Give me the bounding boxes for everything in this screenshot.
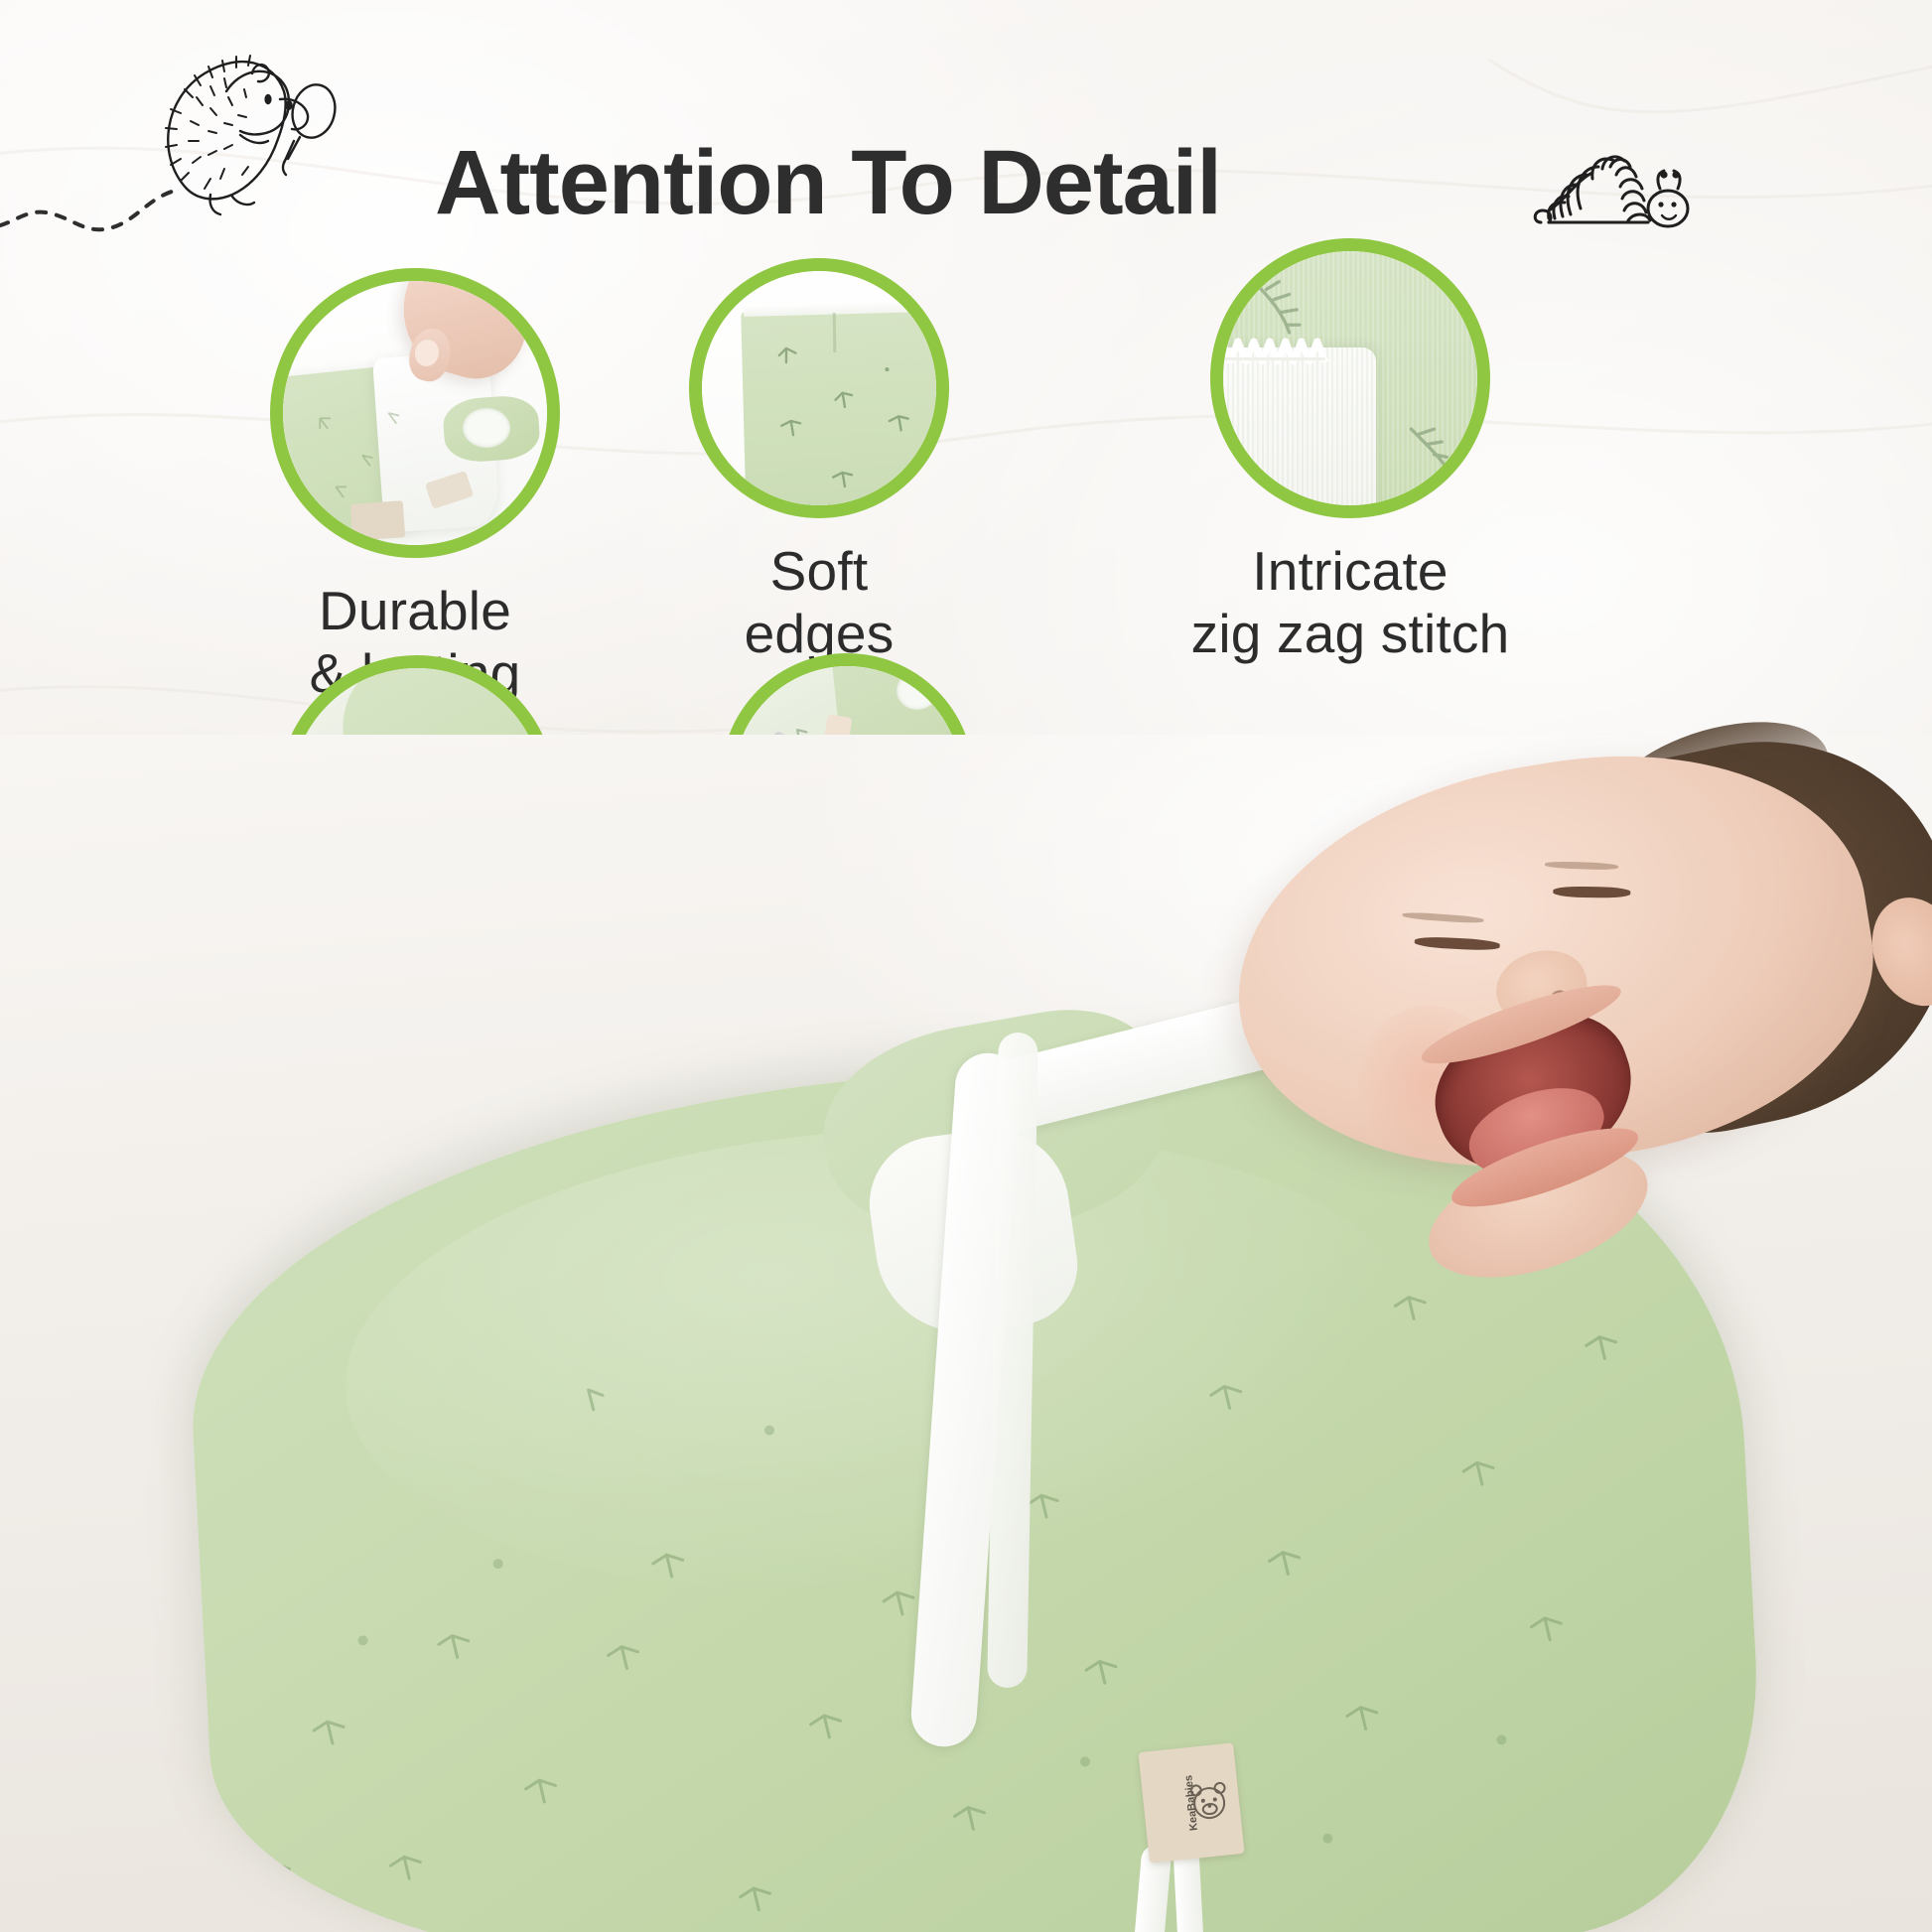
product-photo: KeaBabies [0,735,1932,1932]
feature-soft-edges: Soft edges [655,258,983,664]
caterpillar-icon [1529,123,1698,232]
hedgehog-with-magnifier-icon [129,40,357,218]
product-marketing-image: Attention To Detail [0,0,1932,1932]
brand-tag: KeaBabies [1138,1742,1244,1863]
feature-durable: Durable & lasting [241,268,589,704]
leaf-sprig-print [283,281,547,545]
feature-zig-zag-stitch: Intricate zig zag stitch [1092,238,1608,664]
header: Attention To Detail [0,20,1932,258]
zig-zag-stitch-label: Intricate zig zag stitch [1092,540,1608,664]
soft-edges-label: Soft edges [655,540,983,664]
durable-photo-circle [270,268,560,558]
leaf-sprig-print [1223,251,1477,505]
page-title: Attention To Detail [435,137,1221,228]
leaf-sprig-print [702,271,936,505]
baby-face [1176,755,1932,1191]
zig-zag-stitch-photo-circle [1210,238,1490,518]
baby-eye-left [1415,936,1500,951]
baby-eye-right [1553,886,1630,897]
bear-face-logo [1184,1774,1233,1828]
soft-edges-photo-circle [689,258,949,518]
